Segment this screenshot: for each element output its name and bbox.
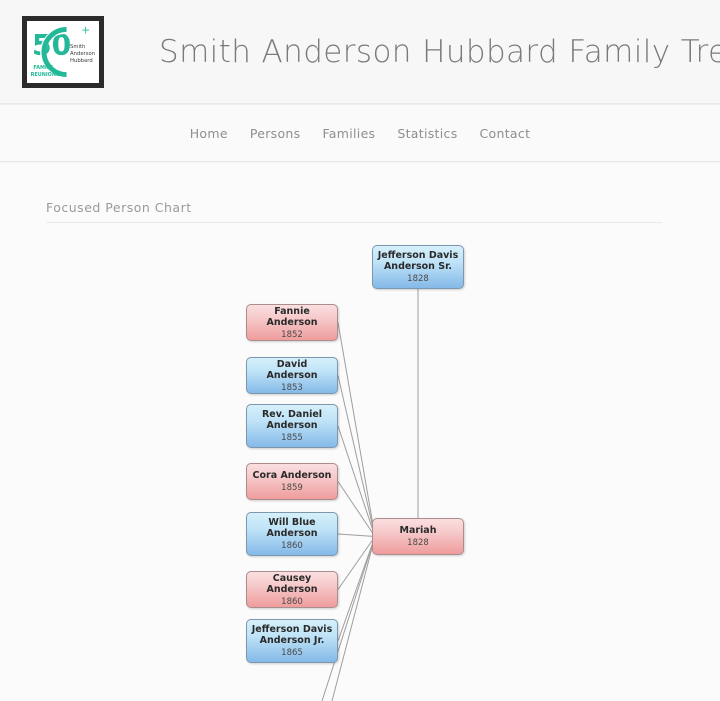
nav-item-persons[interactable]: Persons: [250, 126, 301, 141]
logo-line2: Anderson: [70, 50, 95, 56]
logo-svg: 50 + Smith Anderson Hubbard FAMILY REUNI…: [27, 21, 99, 83]
person-node-causey[interactable]: Causey Anderson1860: [246, 571, 338, 608]
person-year: 1860: [281, 597, 303, 607]
person-node-mariah[interactable]: Mariah1828: [372, 518, 464, 555]
connector-will-to-mariah: [338, 534, 375, 537]
page-title: Smith Anderson Hubbard Family Tree: [159, 34, 720, 70]
logo-line3: Hubbard: [70, 57, 93, 63]
person-node-david[interactable]: David Anderson1853: [246, 357, 338, 394]
nav-item-families[interactable]: Families: [322, 126, 375, 141]
logo-footer2: REUNIONS: [31, 71, 60, 77]
person-node-daniel[interactable]: Rev. Daniel Anderson1855: [246, 404, 338, 448]
person-node-fannie[interactable]: Fannie Anderson1852: [246, 304, 338, 341]
person-name: Fannie Anderson: [247, 306, 337, 328]
person-node-jd_sr[interactable]: Jefferson Davis Anderson Sr.1828: [372, 245, 464, 289]
connector-cora-to-mariah: [338, 482, 375, 537]
person-year: 1828: [407, 538, 429, 548]
person-name: Will Blue Anderson: [247, 517, 337, 539]
section-heading: Focused Person Chart: [46, 200, 662, 223]
logo-plus: +: [81, 24, 90, 36]
nav-item-home[interactable]: Home: [190, 126, 228, 141]
person-year: 1859: [281, 483, 303, 493]
person-year: 1852: [281, 330, 303, 340]
connector-fannie-to-mariah: [338, 323, 375, 537]
connector-david-to-mariah: [338, 376, 375, 537]
person-name: Cora Anderson: [250, 470, 335, 481]
person-year: 1828: [407, 274, 429, 284]
connector-causey-to-mariah: [338, 537, 375, 590]
person-year: 1865: [281, 648, 303, 658]
person-name: Mariah: [397, 525, 440, 536]
nav-item-statistics[interactable]: Statistics: [397, 126, 457, 141]
person-name: David Anderson: [247, 359, 337, 381]
content-area: Focused Person Chart Jefferson Davis And…: [0, 162, 720, 701]
person-name: Jefferson Davis Anderson Jr.: [247, 624, 337, 646]
person-year: 1860: [281, 541, 303, 551]
chart-connectors: [0, 241, 720, 701]
site-header: 50 + Smith Anderson Hubbard FAMILY REUNI…: [0, 0, 720, 104]
person-node-jd_jr[interactable]: Jefferson Davis Anderson Jr.1865: [246, 619, 338, 663]
person-name: Rev. Daniel Anderson: [247, 409, 337, 431]
nav-item-contact[interactable]: Contact: [480, 126, 531, 141]
main-navigation: Home Persons Families Statistics Contact: [0, 104, 720, 162]
logo-artwork: 50 + Smith Anderson Hubbard FAMILY REUNI…: [27, 21, 99, 83]
person-node-will[interactable]: Will Blue Anderson1860: [246, 512, 338, 556]
person-year: 1855: [281, 433, 303, 443]
person-node-cora[interactable]: Cora Anderson1859: [246, 463, 338, 500]
logo-footer1: FAMILY: [33, 64, 53, 70]
logo-line1: Smith: [70, 43, 85, 49]
connector-daniel-to-mariah: [338, 426, 375, 537]
connector-offscreen_2-to-mariah: [332, 537, 375, 701]
site-logo[interactable]: 50 + Smith Anderson Hubbard FAMILY REUNI…: [22, 16, 104, 88]
person-name: Causey Anderson: [247, 573, 337, 595]
person-year: 1853: [281, 383, 303, 393]
focused-person-chart: Jefferson Davis Anderson Sr.1828Fannie A…: [0, 241, 720, 701]
person-name: Jefferson Davis Anderson Sr.: [373, 250, 463, 272]
